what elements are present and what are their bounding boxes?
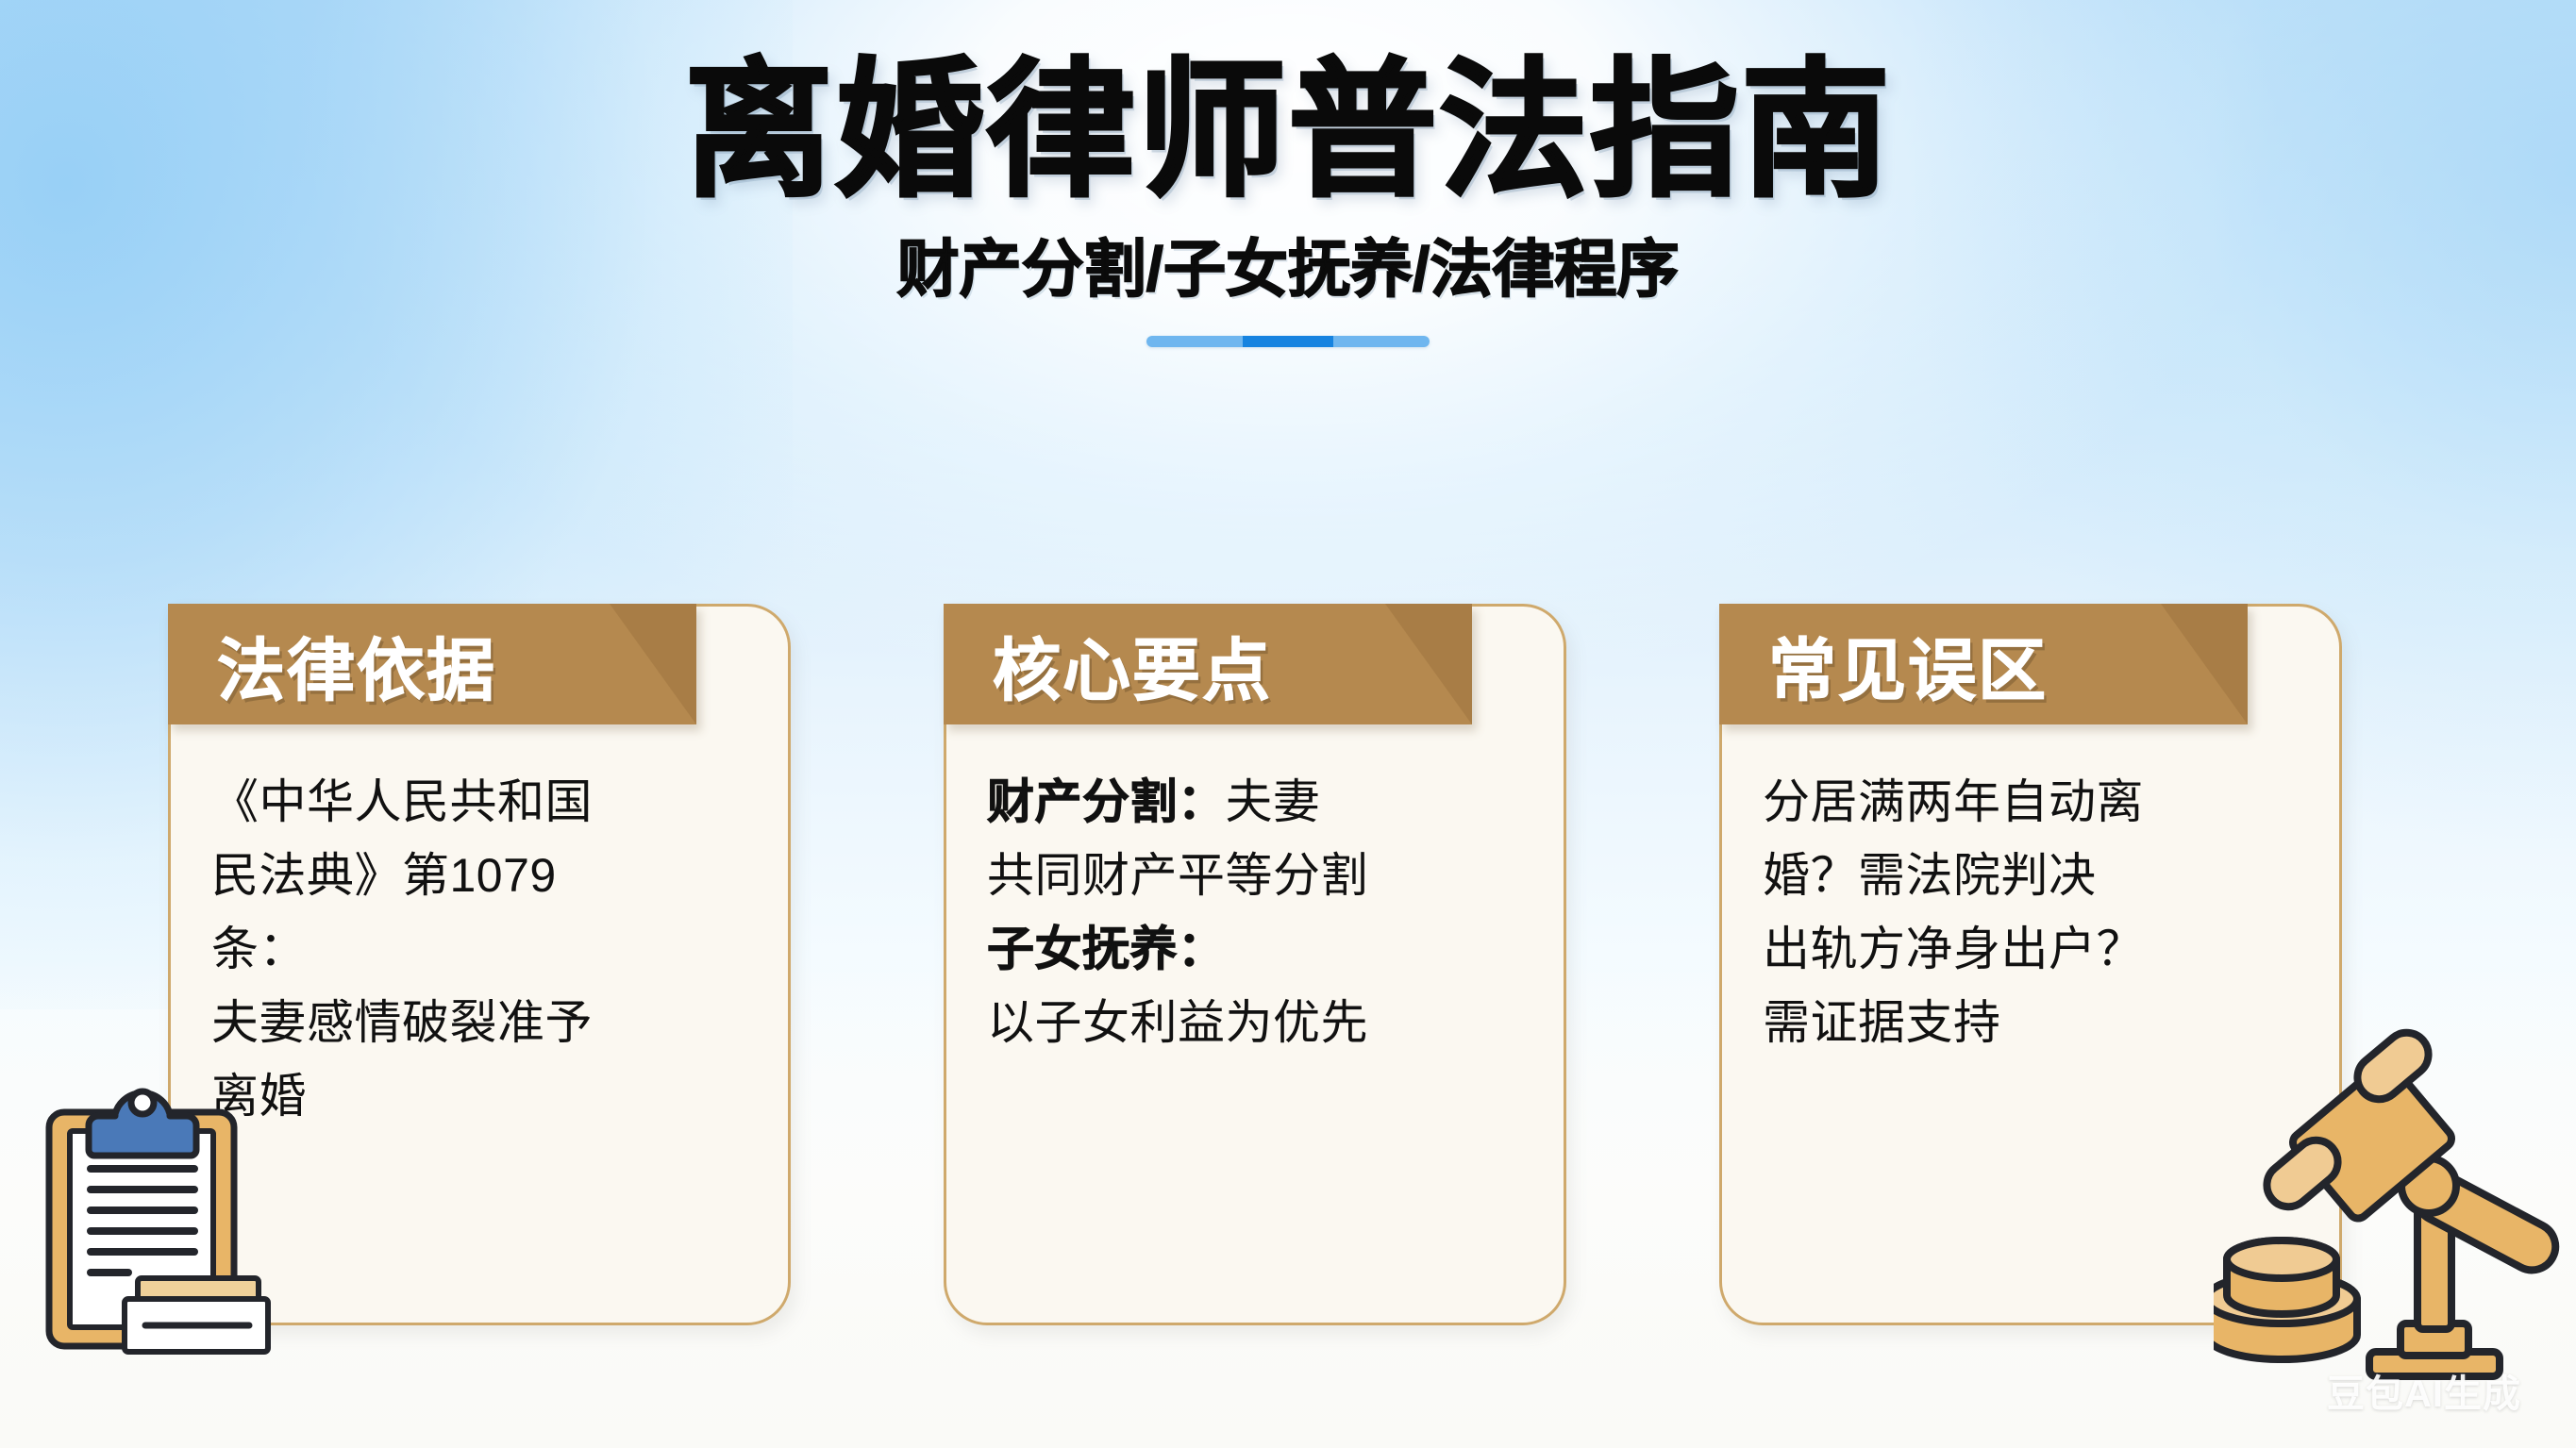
card-title: 常见误区 [1719,615,2048,714]
watermark: 豆包AI生成 [2327,1363,2521,1418]
card-content: 财产分割：夫妻 共同财产平等分割 子女抚养： 以子女利益为优先 [987,766,1563,1060]
folded-corner-icon [1385,604,1472,724]
info-card-key-points: 核心要点 财产分割：夫妻 共同财产平等分割 子女抚养： 以子女利益为优先 [944,604,1604,1325]
card-line: 条： [211,913,787,985]
card-line: 夫妻感情破裂准予 [211,987,787,1058]
gavel-icon [2214,1024,2563,1420]
card-line-label: 子女抚养： [987,913,1563,985]
card-line: 分居满两年自动离 [1763,766,2338,838]
card-header: 核心要点 [944,604,1472,724]
folded-corner-icon [2161,604,2248,724]
card-header: 法律依据 [168,604,696,724]
card-line-label: 财产分割： [987,775,1226,828]
card-title: 核心要点 [944,615,1272,714]
clipboard-icon [25,1069,308,1408]
card-line: 《中华人民共和国 [211,766,787,838]
card-line: 民法典》第1079 [211,840,787,911]
page-subtitle: 财产分割/子女抚养/法律程序 [0,238,2576,300]
poster-canvas: 离婚律师普法指南 财产分割/子女抚养/法律程序 法律依据 《中华人民共和国 民法… [0,0,2576,1448]
divider-segment-center [1243,336,1333,347]
card-line: 财产分割：夫妻 [987,766,1563,838]
divider-segment-left [1146,336,1243,347]
card-line: 婚？需法院判决 [1763,840,2338,911]
card-line: 出轨方净身出户？ [1763,913,2338,985]
card-line: 共同财产平等分割 [987,840,1563,911]
page-title: 离婚律师普法指南 [0,57,2576,206]
folded-corner-icon [610,604,696,724]
poster-header: 离婚律师普法指南 财产分割/子女抚养/法律程序 [0,57,2576,347]
card-header: 常见误区 [1719,604,2248,724]
card-line-value: 夫妻 [1226,775,1321,828]
divider-segment-right [1333,336,1430,347]
card-list: 法律依据 《中华人民共和国 民法典》第1079 条： 夫妻感情破裂准予 离婚 核… [0,604,2576,1330]
card-line: 以子女利益为优先 [987,987,1563,1058]
card-content: 分居满两年自动离 婚？需法院判决 出轨方净身出户？ 需证据支持 [1763,766,2338,1060]
title-divider [0,336,2576,347]
card-title: 法律依据 [168,615,496,714]
